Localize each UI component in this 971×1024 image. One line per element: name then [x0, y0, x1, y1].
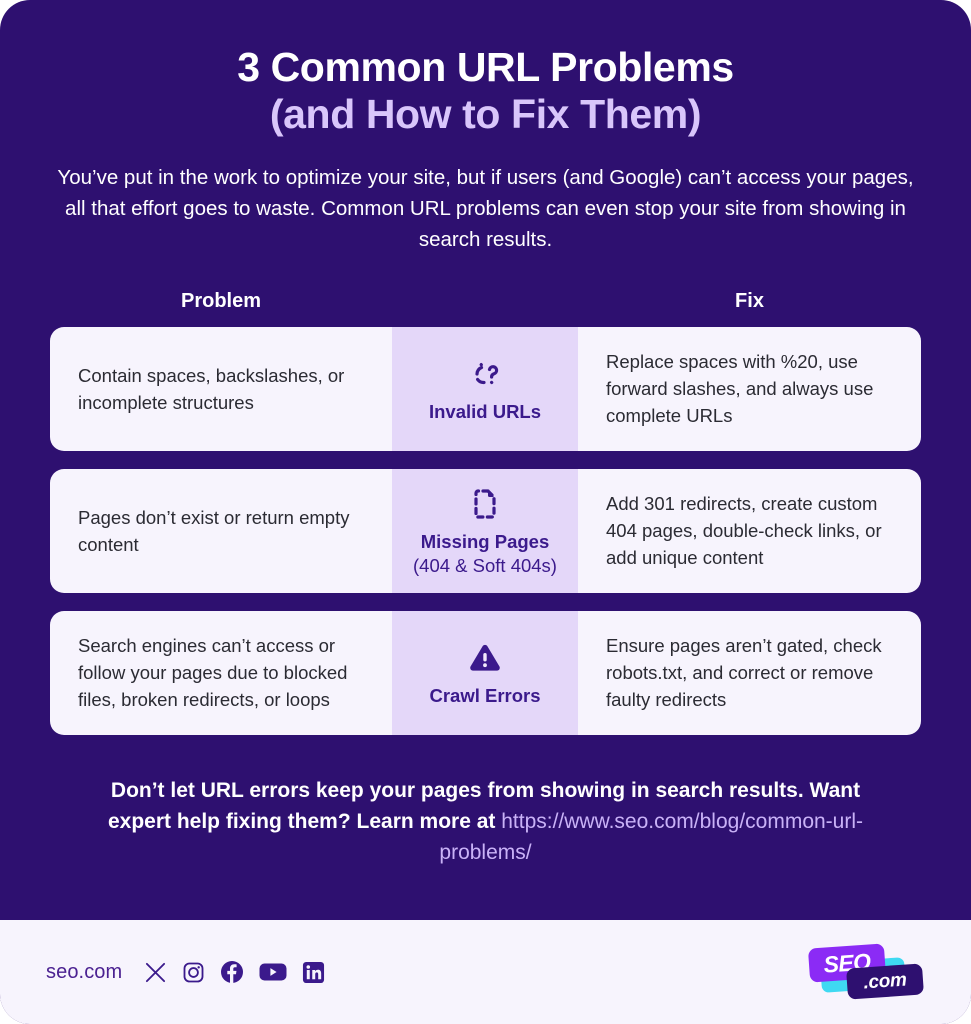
row-icon-cell: Invalid URLs	[392, 327, 578, 451]
page-title-line-1: 3 Common URL Problems	[46, 44, 925, 91]
row-icon-cell: Missing Pages (404 & Soft 404s)	[392, 469, 578, 593]
footer-bar: seo.com	[0, 920, 971, 1024]
row-fix-cell: Ensure pages aren’t gated, check robots.…	[578, 611, 921, 735]
youtube-icon[interactable]	[259, 961, 287, 983]
column-header-spacer	[392, 290, 578, 313]
row-fix-text: Ensure pages aren’t gated, check robots.…	[606, 632, 893, 713]
row-fix-text: Replace spaces with %20, use forward sla…	[606, 348, 893, 429]
row-problem-text: Pages don’t exist or return empty conten…	[78, 504, 366, 558]
broken-link-question-icon	[465, 354, 505, 394]
cta-block: Don’t let URL errors keep your pages fro…	[46, 775, 926, 868]
facebook-icon[interactable]	[220, 960, 244, 984]
row-icon-label: Missing Pages	[421, 530, 550, 553]
linkedin-icon[interactable]	[302, 961, 325, 984]
column-header-fix: Fix	[578, 290, 921, 313]
row-fix-cell: Replace spaces with %20, use forward sla…	[578, 327, 921, 451]
warning-triangle-icon	[465, 638, 505, 678]
row-icon-sublabel: (404 & Soft 404s)	[413, 554, 557, 577]
intro-paragraph: You’ve put in the work to optimize your …	[50, 163, 922, 255]
row-icon-label: Invalid URLs	[429, 400, 541, 423]
logo-secondary-text: .com	[863, 969, 908, 994]
table-row: Pages don’t exist or return empty conten…	[50, 469, 921, 593]
footer-left-group: seo.com	[46, 960, 325, 984]
column-header-problem: Problem	[50, 290, 392, 313]
problem-rows: Contain spaces, backslashes, or incomple…	[0, 313, 971, 735]
cta-url-link[interactable]: https://www.seo.com/blog/common-url-prob…	[439, 810, 863, 864]
page-title-line-2: (and How to Fix Them)	[46, 91, 925, 138]
dashed-document-icon	[465, 484, 505, 524]
row-problem-text: Contain spaces, backslashes, or incomple…	[78, 362, 366, 416]
footer-brand-text: seo.com	[46, 961, 122, 984]
table-row: Contain spaces, backslashes, or incomple…	[50, 327, 921, 451]
row-fix-text: Add 301 redirects, create custom 404 pag…	[606, 490, 893, 571]
row-problem-cell: Search engines can’t access or follow yo…	[50, 611, 392, 735]
seo-com-logo[interactable]: SEO .com	[807, 944, 925, 1000]
infographic-root: 3 Common URL Problems (and How to Fix Th…	[0, 0, 971, 1024]
social-links	[144, 960, 325, 984]
instagram-icon[interactable]	[182, 961, 205, 984]
row-icon-label: Crawl Errors	[429, 684, 540, 707]
logo-secondary-tile: .com	[846, 963, 924, 999]
row-problem-text: Search engines can’t access or follow yo…	[78, 632, 366, 713]
row-fix-cell: Add 301 redirects, create custom 404 pag…	[578, 469, 921, 593]
row-problem-cell: Contain spaces, backslashes, or incomple…	[50, 327, 392, 451]
row-icon-cell: Crawl Errors	[392, 611, 578, 735]
x-icon[interactable]	[144, 961, 167, 984]
column-headers: Problem Fix	[0, 290, 971, 313]
table-row: Search engines can’t access or follow yo…	[50, 611, 921, 735]
header: 3 Common URL Problems (and How to Fix Th…	[0, 0, 971, 256]
row-problem-cell: Pages don’t exist or return empty conten…	[50, 469, 392, 593]
